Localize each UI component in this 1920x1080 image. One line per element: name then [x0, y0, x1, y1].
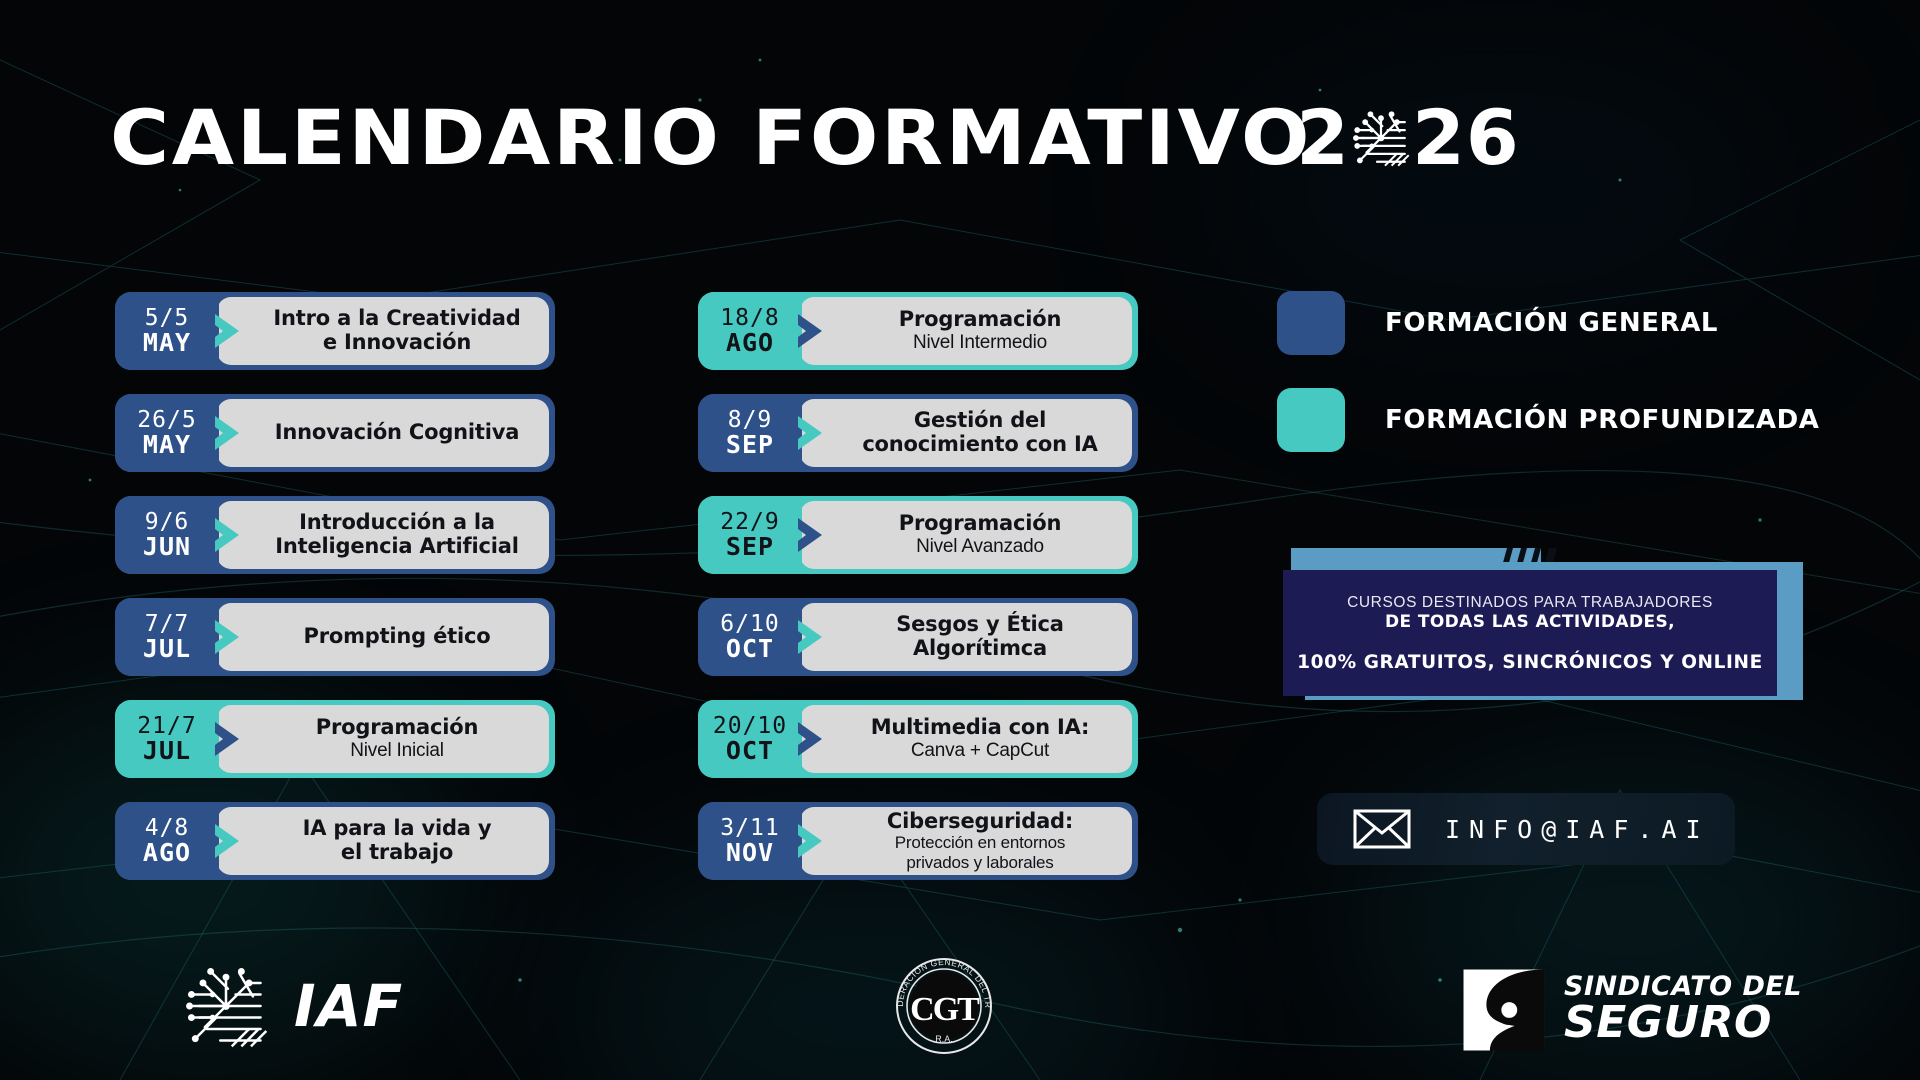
course-card[interactable]: 4/8 AGO IA para la vida y el trabajo [115, 802, 555, 880]
info-line-2: DE TODAS LAS ACTIVIDADES, [1385, 612, 1675, 632]
card-day: 26/5 [137, 408, 196, 432]
circuit-chip-icon [1348, 105, 1414, 171]
seguro-mark-icon [1460, 966, 1548, 1054]
legend-label-deep: FORMACIÓN PROFUNDIZADA [1385, 405, 1820, 435]
card-date: 20/10 OCT [698, 700, 802, 778]
chevron-right-icon [211, 311, 245, 351]
info-box: CURSOS DESTINADOS PARA TRABAJADORES DE T… [1283, 548, 1803, 700]
card-title-2: e Innovación [323, 331, 471, 355]
card-month: JUL [143, 636, 191, 663]
chevron-right-icon [794, 617, 828, 657]
card-body: Gestión del conocimiento con IA [800, 399, 1132, 467]
card-date: 4/8 AGO [115, 802, 219, 880]
card-date: 8/9 SEP [698, 394, 802, 472]
card-date: 18/8 AGO [698, 292, 802, 370]
card-title: Ciberseguridad: [887, 810, 1073, 834]
card-day: 4/8 [145, 816, 190, 840]
card-date: 3/11 NOV [698, 802, 802, 880]
card-body: Prompting ético [217, 603, 549, 671]
card-body: Innovación Cognitiva [217, 399, 549, 467]
card-day: 5/5 [145, 306, 190, 330]
card-day: 9/6 [145, 510, 190, 534]
card-month: SEP [726, 432, 774, 459]
iaf-logo-text: IAF [294, 972, 403, 1040]
chevron-right-icon [211, 617, 245, 657]
circuit-chip-icon [178, 958, 274, 1054]
legend-item-general: FORMACIÓN GENERAL [1277, 291, 1820, 355]
info-line-1: CURSOS DESTINADOS PARA TRABAJADORES [1347, 594, 1713, 612]
card-title-2: el trabajo [341, 841, 453, 865]
card-month: OCT [726, 636, 774, 663]
card-title: IA para la vida y [303, 817, 492, 841]
card-title: Programación [899, 512, 1061, 536]
legend-item-deep: FORMACIÓN PROFUNDIZADA [1277, 388, 1820, 452]
card-day: 8/9 [728, 408, 773, 432]
course-card[interactable]: 3/11 NOV Ciberseguridad: Protección en e… [698, 802, 1138, 880]
card-title: Programación [899, 308, 1061, 332]
legend-swatch-general [1277, 291, 1345, 355]
card-body: Sesgos y Ética Algorítimca [800, 603, 1132, 671]
card-date: 9/6 JUN [115, 496, 219, 574]
card-subtitle: Protección en entornos [895, 833, 1065, 853]
card-title-2: Inteligencia Artificial [275, 535, 518, 559]
iaf-logo: IAF [178, 958, 403, 1054]
svg-text:CGT: CGT [910, 991, 980, 1028]
card-month: JUL [143, 738, 191, 765]
card-date: 26/5 MAY [115, 394, 219, 472]
card-month: AGO [143, 840, 191, 867]
course-card[interactable]: 21/7 JUL Programación Nivel Inicial [115, 700, 555, 778]
card-day: 21/7 [137, 714, 196, 738]
legend-swatch-deep [1277, 388, 1345, 452]
year-suffix: 26 [1412, 100, 1520, 176]
email-contact[interactable]: INFO@IAF.AI [1317, 793, 1735, 865]
card-body: Programación Nivel Intermedio [800, 297, 1132, 365]
card-date: 22/9 SEP [698, 496, 802, 574]
card-title: Multimedia con IA: [871, 716, 1090, 740]
chevron-right-icon [211, 515, 245, 555]
seguro-line-1: SINDICATO DEL [1564, 973, 1802, 1000]
chevron-right-icon [794, 821, 828, 861]
sindicato-seguro-logo: SINDICATO DEL SEGURO [1460, 966, 1802, 1054]
course-card[interactable]: 18/8 AGO Programación Nivel Intermedio [698, 292, 1138, 370]
card-title: Intro a la Creatividad [273, 307, 520, 331]
card-month: MAY [143, 432, 191, 459]
card-body: Multimedia con IA: Canva + CapCut [800, 705, 1132, 773]
card-title: Gestión del [914, 409, 1046, 433]
card-title: Prompting ético [304, 625, 491, 649]
svg-text:R.A.: R.A. [935, 1034, 953, 1044]
card-month: NOV [726, 840, 774, 867]
card-body: Intro a la Creatividad e Innovación [217, 297, 549, 365]
card-title: Introducción a la [299, 511, 495, 535]
card-subtitle: Nivel Inicial [350, 740, 444, 762]
card-date: 21/7 JUL [115, 700, 219, 778]
card-subtitle: Nivel Avanzado [916, 536, 1044, 558]
seguro-logo-text: SINDICATO DEL SEGURO [1564, 973, 1802, 1046]
course-card[interactable]: 26/5 MAY Innovación Cognitiva [115, 394, 555, 472]
card-body: Introducción a la Inteligencia Artificia… [217, 501, 549, 569]
card-title: Programación [316, 716, 478, 740]
card-day: 20/10 [713, 714, 787, 738]
card-month: AGO [726, 330, 774, 357]
course-card[interactable]: 9/6 JUN Introducción a la Inteligencia A… [115, 496, 555, 574]
card-month: OCT [726, 738, 774, 765]
course-card[interactable]: 22/9 SEP Programación Nivel Avanzado [698, 496, 1138, 574]
chevron-right-icon [794, 413, 828, 453]
seguro-line-2: SEGURO [1564, 1000, 1802, 1046]
card-body: IA para la vida y el trabajo [217, 807, 549, 875]
card-body: Programación Nivel Inicial [217, 705, 549, 773]
legend: FORMACIÓN GENERAL FORMACIÓN PROFUNDIZADA [1277, 291, 1820, 485]
card-day: 3/11 [720, 816, 779, 840]
card-title: Sesgos y Ética [896, 613, 1064, 637]
email-address: INFO@IAF.AI [1445, 815, 1710, 844]
chevron-right-icon [211, 719, 245, 759]
course-card[interactable]: 6/10 OCT Sesgos y Ética Algorítimca [698, 598, 1138, 676]
card-day: 7/7 [145, 612, 190, 636]
legend-label-general: FORMACIÓN GENERAL [1385, 308, 1718, 338]
info-line-3: 100% GRATUITOS, SINCRÓNICOS Y ONLINE [1297, 652, 1763, 673]
course-card[interactable]: 20/10 OCT Multimedia con IA: Canva + Cap… [698, 700, 1138, 778]
footer: IAF CONFEDERACION GENERAL DEL TRABAJO CG… [0, 950, 1920, 1080]
card-title: Innovación Cognitiva [275, 421, 519, 445]
card-month: MAY [143, 330, 191, 357]
card-body: Ciberseguridad: Protección en entornos p… [800, 807, 1132, 875]
info-box-content: CURSOS DESTINADOS PARA TRABAJADORES DE T… [1283, 570, 1777, 696]
card-date: 5/5 MAY [115, 292, 219, 370]
cgt-logo: CONFEDERACION GENERAL DEL TRABAJO CGT R.… [894, 956, 994, 1056]
card-subtitle: Canva + CapCut [911, 740, 1049, 762]
card-title-2: conocimiento con IA [862, 433, 1097, 457]
card-month: JUN [143, 534, 191, 561]
course-column-2: 18/8 AGO Programación Nivel Intermedio 8… [698, 292, 1138, 904]
card-body: Programación Nivel Avanzado [800, 501, 1132, 569]
chevron-right-icon [794, 311, 828, 351]
course-card[interactable]: 5/5 MAY Intro a la Creatividad e Innovac… [115, 292, 555, 370]
card-date: 6/10 OCT [698, 598, 802, 676]
card-title-2: Algorítimca [913, 637, 1047, 661]
chevron-right-icon [794, 515, 828, 555]
course-column-1: 5/5 MAY Intro a la Creatividad e Innovac… [115, 292, 555, 904]
page-title: CALENDARIO FORMATIVO 2 [110, 96, 1520, 180]
card-month: SEP [726, 534, 774, 561]
course-card[interactable]: 8/9 SEP Gestión del conocimiento con IA [698, 394, 1138, 472]
card-day: 18/8 [720, 306, 779, 330]
page-title-text: CALENDARIO FORMATIVO [110, 100, 1312, 176]
card-subtitle: Nivel Intermedio [913, 332, 1047, 354]
chevron-right-icon [794, 719, 828, 759]
card-date: 7/7 JUL [115, 598, 219, 676]
envelope-icon [1353, 809, 1411, 849]
chevron-right-icon [211, 413, 245, 453]
card-subtitle-2: privados y laborales [906, 853, 1053, 873]
year-badge: 2 [1296, 100, 1520, 176]
chevron-right-icon [211, 821, 245, 861]
card-day: 6/10 [720, 612, 779, 636]
card-day: 22/9 [720, 510, 779, 534]
course-card[interactable]: 7/7 JUL Prompting ético [115, 598, 555, 676]
